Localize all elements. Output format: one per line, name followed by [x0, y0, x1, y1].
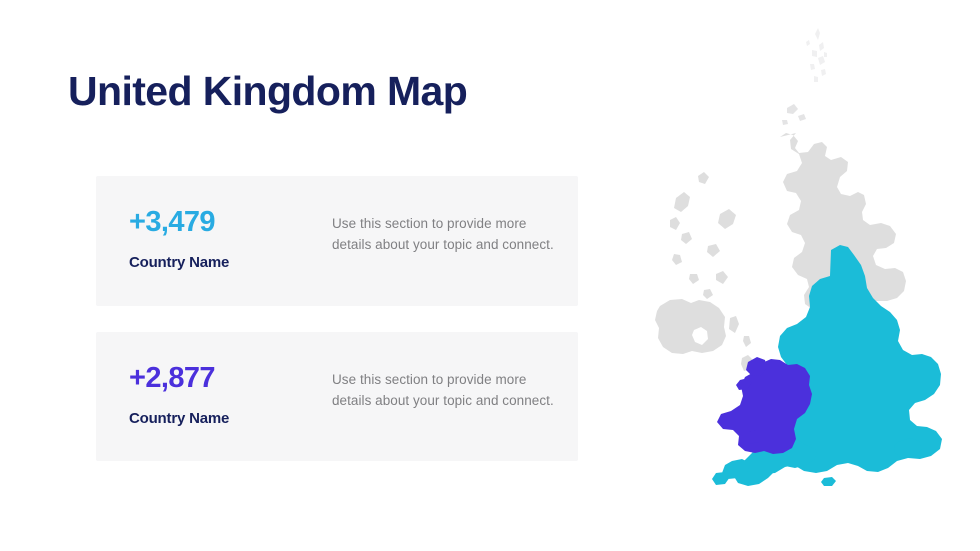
page-title: United Kingdom Map [68, 68, 467, 115]
stat-card-text-block: +3,479 Country Name [129, 207, 319, 271]
map-region-orkney-islands[interactable] [782, 104, 806, 125]
stat-label: Country Name [129, 410, 319, 427]
stat-label: Country Name [129, 254, 319, 271]
stat-card[interactable]: +3,479 Country Name Use this section to … [96, 176, 578, 306]
stat-value: +3,479 [129, 207, 319, 239]
stat-card[interactable]: +2,877 Country Name Use this section to … [96, 332, 578, 461]
united-kingdom-map [612, 18, 972, 523]
stat-description: Use this section to provide more details… [332, 369, 557, 411]
stat-value: +2,877 [129, 363, 319, 395]
slide-canvas: United Kingdom Map +3,479 Country Name U… [0, 0, 980, 551]
map-region-northern-ireland[interactable] [655, 299, 726, 354]
stat-description: Use this section to provide more details… [332, 213, 557, 255]
stat-card-text-block: +2,877 Country Name [129, 363, 319, 427]
map-region-shetland-islands[interactable] [806, 28, 827, 82]
